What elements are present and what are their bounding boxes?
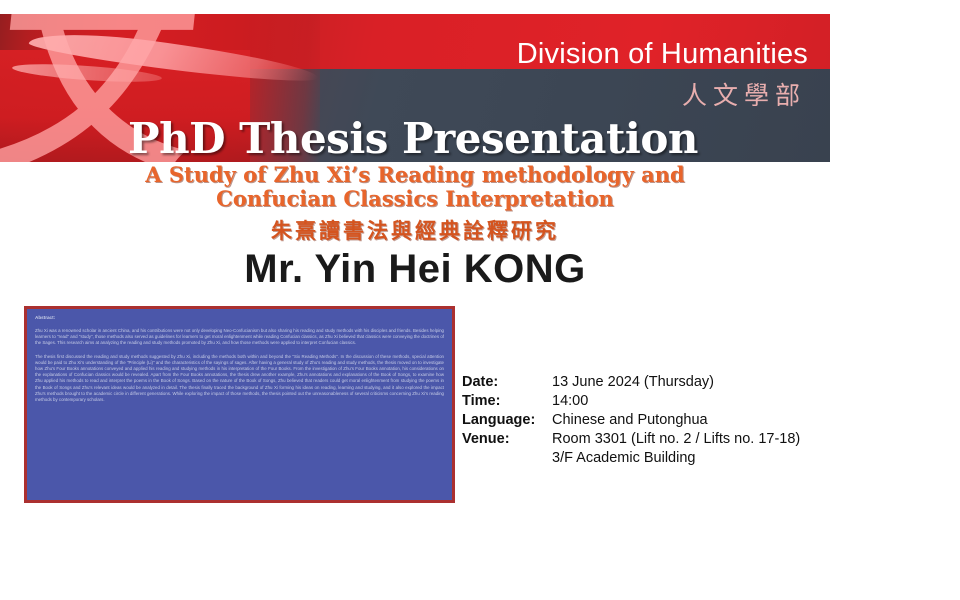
detail-value-time: 14:00 <box>552 393 800 412</box>
abstract-paragraph: The thesis first discussed the reading a… <box>35 354 444 404</box>
thesis-title-line-2: Confucian Classics Interpretation <box>0 187 830 211</box>
abstract-label: Abstract: <box>35 315 444 321</box>
detail-label-spacer <box>462 450 552 469</box>
table-row: Time: 14:00 <box>462 393 800 412</box>
abstract-panel: Abstract: Zhu Xi was a renowned scholar … <box>24 306 455 503</box>
detail-value-date: 13 June 2024 (Thursday) <box>552 374 800 393</box>
detail-label-venue: Venue: <box>462 431 552 450</box>
detail-value-venue: Room 3301 (Lift no. 2 / Lifts no. 17-18) <box>552 431 800 450</box>
table-row: 3/F Academic Building <box>462 450 800 469</box>
thesis-title-chinese: 朱熹讀書法與經典詮釋研究 <box>0 215 830 245</box>
speaker-name: Mr. Yin Hei KONG <box>0 247 830 292</box>
table-row: Date: 13 June 2024 (Thursday) <box>462 374 800 393</box>
event-details-table: Date: 13 June 2024 (Thursday) Time: 14:0… <box>462 374 800 469</box>
table-row: Venue: Room 3301 (Lift no. 2 / Lifts no.… <box>462 431 800 450</box>
thesis-title-block: A Study of Zhu Xi’s Reading methodology … <box>0 163 830 245</box>
thesis-presentation-poster: 文 Division of Humanities 人文學部 PhD Thesis… <box>0 0 960 600</box>
detail-value-language: Chinese and Putonghua <box>552 412 800 431</box>
detail-label-date: Date: <box>462 374 552 393</box>
table-row: Language: Chinese and Putonghua <box>462 412 800 431</box>
header-banner: 文 Division of Humanities 人文學部 PhD Thesis… <box>0 14 830 162</box>
thesis-title-line-1: A Study of Zhu Xi’s Reading methodology … <box>0 163 830 187</box>
abstract-paragraph: Zhu Xi was a renowned scholar in ancient… <box>35 328 444 347</box>
detail-label-language: Language: <box>462 412 552 431</box>
detail-value-venue-line-2: 3/F Academic Building <box>552 450 800 469</box>
division-name-english: Division of Humanities <box>517 38 808 71</box>
detail-label-time: Time: <box>462 393 552 412</box>
page-title: PhD Thesis Presentation <box>128 114 698 162</box>
event-details: Date: 13 June 2024 (Thursday) Time: 14:0… <box>462 374 800 469</box>
division-name-chinese: 人文學部 <box>682 76 806 112</box>
